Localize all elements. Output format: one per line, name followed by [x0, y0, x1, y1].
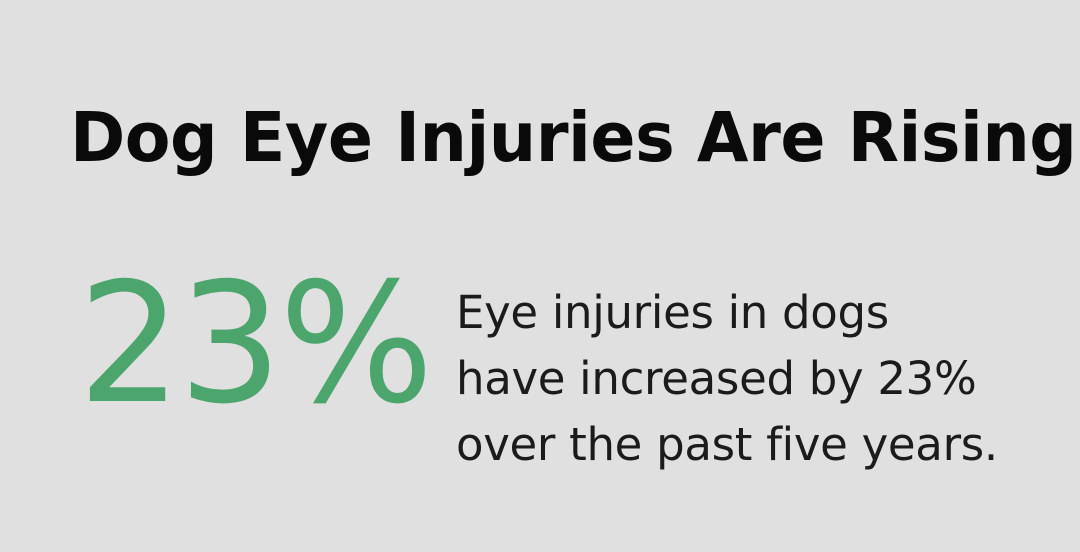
infographic-canvas: Dog Eye Injuries Are Rising 23% Eye inju… [0, 0, 1080, 552]
page-title: Dog Eye Injuries Are Rising [70, 96, 987, 180]
description-line-1: Eye injuries in dogs [456, 280, 1080, 346]
description-line-2: have increased by 23% [456, 346, 1080, 412]
stat-description: Eye injuries in dogs have increased by 2… [456, 280, 1080, 478]
stat-row: 23% Eye injuries in dogs have increased … [0, 262, 1080, 492]
stat-value: 23% [78, 262, 431, 428]
description-line-3: over the past five years. [456, 412, 1080, 478]
